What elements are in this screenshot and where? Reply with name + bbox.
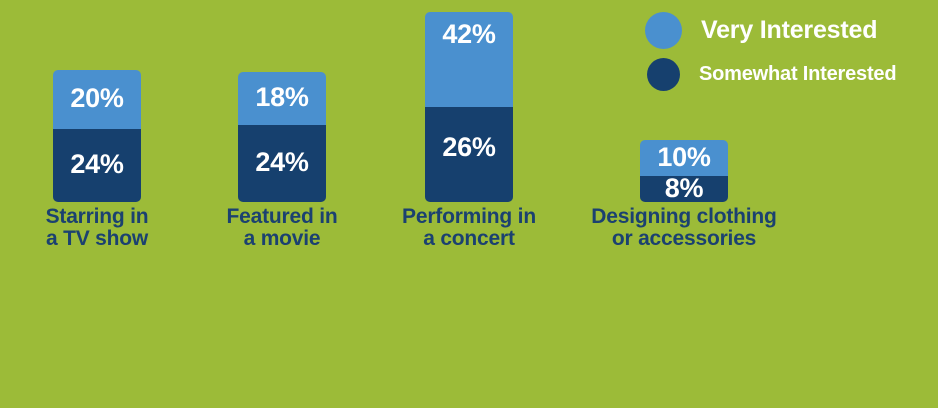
bar-value-label: 10%: [657, 144, 710, 171]
category-label-designing-clothing-or-accessories: Designing clothing or accessories: [568, 206, 800, 251]
bar-starring-in-a-tv-show: 20% 24%: [53, 0, 141, 202]
bar-value-label: 24%: [255, 149, 308, 176]
legend-item-very-interested[interactable]: Very Interested: [645, 12, 877, 49]
legend-item-somewhat-interested[interactable]: Somewhat Interested: [647, 58, 896, 91]
bar-value-label: 18%: [255, 84, 308, 111]
bar-segment-somewhat-interested[interactable]: 24%: [238, 125, 326, 202]
legend-label: Somewhat Interested: [699, 63, 896, 86]
circle-icon: [647, 58, 680, 91]
bar-segment-somewhat-interested[interactable]: 26%: [425, 107, 513, 202]
bar-group-starring-in-a-tv-show: 20% 24% Starring in a TV show: [53, 0, 141, 270]
category-label-starring-in-a-tv-show: Starring in a TV show: [9, 206, 185, 251]
bar-featured-in-a-movie: 18% 24%: [238, 0, 326, 202]
bar-value-label: 24%: [70, 151, 123, 178]
bar-group-performing-in-a-concert: 42% 26% Performing in a concert: [425, 0, 513, 270]
category-label-featured-in-a-movie: Featured in a movie: [194, 206, 370, 251]
bar-performing-in-a-concert: 42% 26%: [425, 0, 513, 202]
bar-group-featured-in-a-movie: 18% 24% Featured in a movie: [238, 0, 326, 270]
bar-segment-somewhat-interested[interactable]: 8%: [640, 176, 728, 202]
bar-segment-very-interested[interactable]: 20%: [53, 70, 141, 129]
bar-segment-very-interested[interactable]: 42%: [425, 12, 513, 107]
bar-value-label: 26%: [442, 134, 495, 161]
bar-segment-somewhat-interested[interactable]: 24%: [53, 129, 141, 202]
bar-value-label: 8%: [665, 175, 703, 202]
category-label-performing-in-a-concert: Performing in a concert: [379, 206, 559, 251]
stacked-bar-chart: 20% 24% Starring in a TV show 18% 24% Fe…: [0, 0, 938, 408]
bar-value-label: 20%: [70, 85, 123, 112]
bar-value-label: 42%: [442, 21, 495, 48]
circle-icon: [645, 12, 682, 49]
bar-segment-very-interested[interactable]: 10%: [640, 140, 728, 176]
legend-label: Very Interested: [701, 16, 877, 45]
bar-segment-very-interested[interactable]: 18%: [238, 72, 326, 125]
